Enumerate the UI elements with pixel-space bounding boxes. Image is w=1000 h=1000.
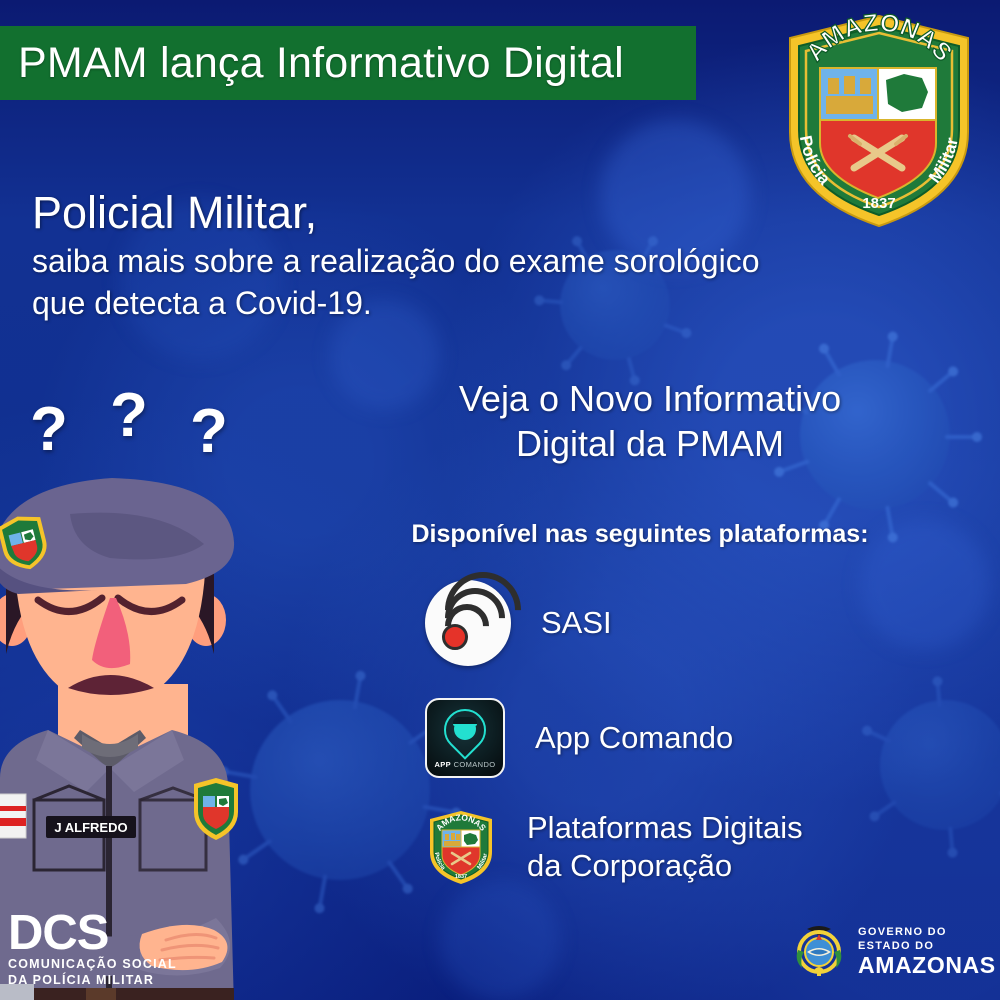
platform-label-line-1: Plataformas Digitais	[527, 809, 803, 847]
promo-headline: Veja o Novo Informativo Digital da PMAM	[390, 376, 910, 466]
lead-line-2: saiba mais sobre a realização do exame s…	[32, 240, 892, 282]
app-icon-text-light: COMANDO	[454, 760, 496, 769]
poster-canvas: PMAM lança Informativo Digital	[0, 0, 1000, 1000]
sasi-rss-icon	[425, 580, 511, 666]
question-mark-icon: ?	[110, 380, 148, 451]
gov-logo-line-1: GOVERNO DO ESTADO DO	[858, 925, 1000, 953]
gov-logo-line-2: AMAZONAS	[858, 953, 1000, 978]
government-logo: GOVERNO DO ESTADO DO AMAZONAS	[790, 922, 1000, 980]
dcs-subtitle-line-2: DA POLÍCIA MILITAR	[8, 972, 177, 988]
promo-line-1: Veja o Novo Informativo	[390, 376, 910, 421]
promo-line-2: Digital da PMAM	[390, 421, 910, 466]
flag-patch	[0, 794, 26, 838]
pmam-crest-icon: AMAZONAS Polícia Militar 1837	[425, 808, 497, 886]
virus-particle	[880, 700, 1000, 830]
platform-item-app-comando[interactable]: APP COMANDO App Comando	[425, 698, 733, 778]
platform-label-plataformas-digitais: Plataformas Digitais da Corporação	[527, 809, 803, 885]
dcs-subtitle-line-1: COMUNICAÇÃO SOCIAL	[8, 956, 177, 972]
platform-item-plataformas-digitais[interactable]: AMAZONAS Polícia Militar 1837 Plataforma…	[425, 808, 803, 886]
platform-label-sasi: SASI	[541, 604, 612, 642]
title-banner: PMAM lança Informativo Digital	[0, 26, 696, 100]
app-comando-icon: APP COMANDO	[425, 698, 505, 778]
availability-label: Disponível nas seguintes plataformas:	[380, 520, 900, 549]
officer-name-tag: J ALFREDO	[54, 820, 127, 835]
lead-line-3: que detecta a Covid-19.	[32, 282, 892, 324]
app-icon-text-bold: APP	[434, 760, 451, 769]
page-title: PMAM lança Informativo Digital	[0, 39, 624, 88]
amazonas-coat-of-arms-icon	[790, 922, 848, 980]
crest-year: 1837	[455, 874, 467, 880]
platform-label-app-comando: App Comando	[535, 719, 733, 757]
platform-label-line-2: da Corporação	[527, 847, 803, 885]
lead-line-1: Policial Militar,	[32, 186, 892, 240]
dcs-mark: DCS	[8, 910, 177, 956]
platform-item-sasi[interactable]: SASI	[425, 580, 612, 666]
dcs-logo: DCS COMUNICAÇÃO SOCIAL DA POLÍCIA MILITA…	[8, 910, 177, 988]
lead-headline: Policial Militar, saiba mais sobre a rea…	[32, 186, 892, 324]
